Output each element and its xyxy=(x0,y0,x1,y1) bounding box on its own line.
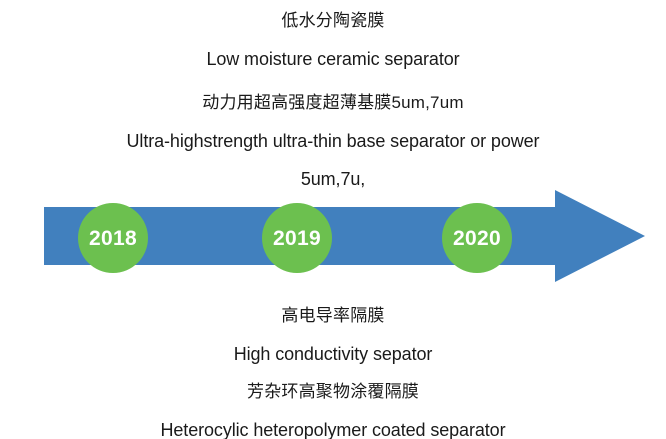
top-caption-line-cn: 低水分陶瓷膜 xyxy=(0,2,666,40)
milestone-2018-label: 2018 xyxy=(89,228,137,249)
milestone-2019-label: 2019 xyxy=(273,228,321,249)
middle-caption-line-cn: 动力用超高强度超薄基膜5um,7um xyxy=(0,84,666,122)
bottom-caption-line-en-1: High conductivity sepator xyxy=(0,335,666,373)
milestone-2018[interactable]: 2018 xyxy=(78,203,148,273)
milestone-2020[interactable]: 2020 xyxy=(442,203,512,273)
timeline-track: 2018 2019 2020 xyxy=(0,186,666,286)
middle-caption-block: 动力用超高强度超薄基膜5um,7um Ultra-highstrength ul… xyxy=(0,84,666,198)
bottom-caption-block: 高电导率隔膜 High conductivity sepator 芳杂环高聚物涂… xyxy=(0,297,666,439)
milestone-2020-label: 2020 xyxy=(453,228,501,249)
milestone-2019[interactable]: 2019 xyxy=(262,203,332,273)
middle-caption-line-en: Ultra-highstrength ultra-thin base separ… xyxy=(0,122,666,160)
top-caption-line-en: Low moisture ceramic separator xyxy=(0,40,666,78)
bottom-caption-line-en-2: Heterocylic heteropolymer coated separat… xyxy=(0,411,666,439)
bottom-caption-line-cn-1: 高电导率隔膜 xyxy=(0,297,666,335)
bottom-caption-line-cn-2: 芳杂环高聚物涂覆隔膜 xyxy=(0,373,666,411)
timeline-diagram: 低水分陶瓷膜 Low moisture ceramic separator 动力… xyxy=(0,0,666,439)
top-caption-block: 低水分陶瓷膜 Low moisture ceramic separator xyxy=(0,2,666,78)
